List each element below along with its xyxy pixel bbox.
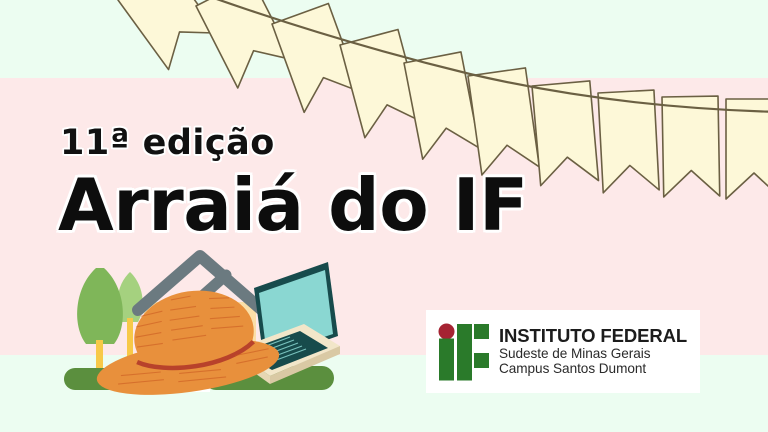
edition-label: 11ª edição (60, 126, 275, 161)
logo-campus-name: Campus Santos Dumont (499, 361, 687, 377)
poster-canvas: 11ª edição Arraiá do IF (0, 0, 768, 432)
logo-institution-name: INSTITUTO FEDERAL (499, 326, 687, 346)
logo-region-name: Sudeste de Minas Gerais (499, 346, 687, 362)
logo-text-block: INSTITUTO FEDERAL Sudeste de Minas Gerai… (499, 326, 687, 378)
institutional-logo-card: INSTITUTO FEDERAL Sudeste de Minas Gerai… (426, 310, 700, 393)
illustration-scene (28, 250, 368, 405)
instituto-federal-logo-mark (438, 323, 490, 381)
logo-red-dot (439, 323, 455, 339)
page-title: Arraiá do IF (58, 168, 528, 244)
